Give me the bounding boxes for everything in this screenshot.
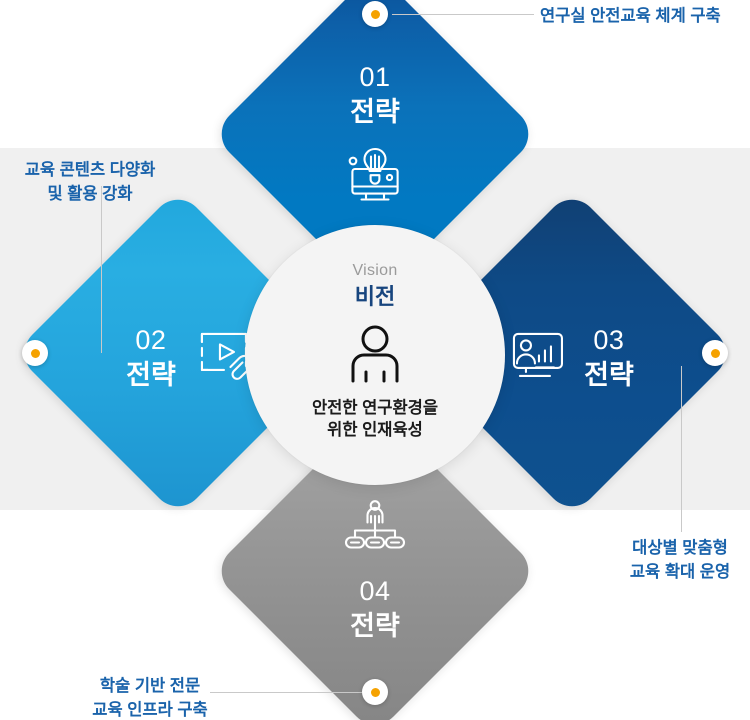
strategy-02-content: 02 전략 [126,323,254,393]
vision-statement-line2: 위한 인재육성 [327,421,423,439]
strategy-diamond-diagram: 01 전략 [0,0,750,720]
strategy-04-word: 전략 [350,608,400,644]
strategy-01-content: 01 전략 [344,59,406,206]
strategy-04-content: 04 전략 [344,499,406,644]
vision-ko-label: 비전 [355,282,395,312]
org-chart-icon [344,499,406,558]
connector-dot-bottom [362,679,388,705]
strategy-03-number: 03 [593,323,624,357]
connector-dot-right [702,340,728,366]
lightbulb-monitor-icon [344,146,406,207]
strategy-01-number: 01 [359,59,390,93]
strategy-01-word: 전략 [350,94,400,130]
strategy-01-label: 연구실 안전교육 체계 구축 [540,4,721,28]
vision-statement: 안전한 연구환경을위한 인재육성 [312,397,438,441]
connector-line-left [101,186,102,353]
vision-en-label: Vision [352,261,397,281]
connector-dot-left [22,340,48,366]
strategy-02-number: 02 [135,323,166,357]
connector-line-right [681,366,682,532]
strategy-03-label: 대상별 맞춤형 교육 확대 운영 [620,536,740,584]
connector-dot-top [362,1,388,27]
strategy-03-word: 전략 [584,357,634,393]
strategy-03-content: 03 전략 [506,323,634,393]
presenter-chart-icon [506,329,570,386]
connector-line-bottom [210,692,362,693]
connector-line-top [392,14,534,15]
strategy-02-word: 전략 [126,357,176,393]
vision-statement-line1: 안전한 연구환경을 [312,399,438,417]
strategy-04-number: 04 [359,574,390,608]
strategy-02-label: 교육 콘텐츠 다양화 및 활용 강화 [16,158,164,206]
vision-circle: Vision 비전 안전한 연구환경을위한 인재육성 [245,225,505,485]
strategy-04-label: 학술 기반 전문 교육 인프라 구축 [88,674,212,720]
person-icon [348,324,402,389]
